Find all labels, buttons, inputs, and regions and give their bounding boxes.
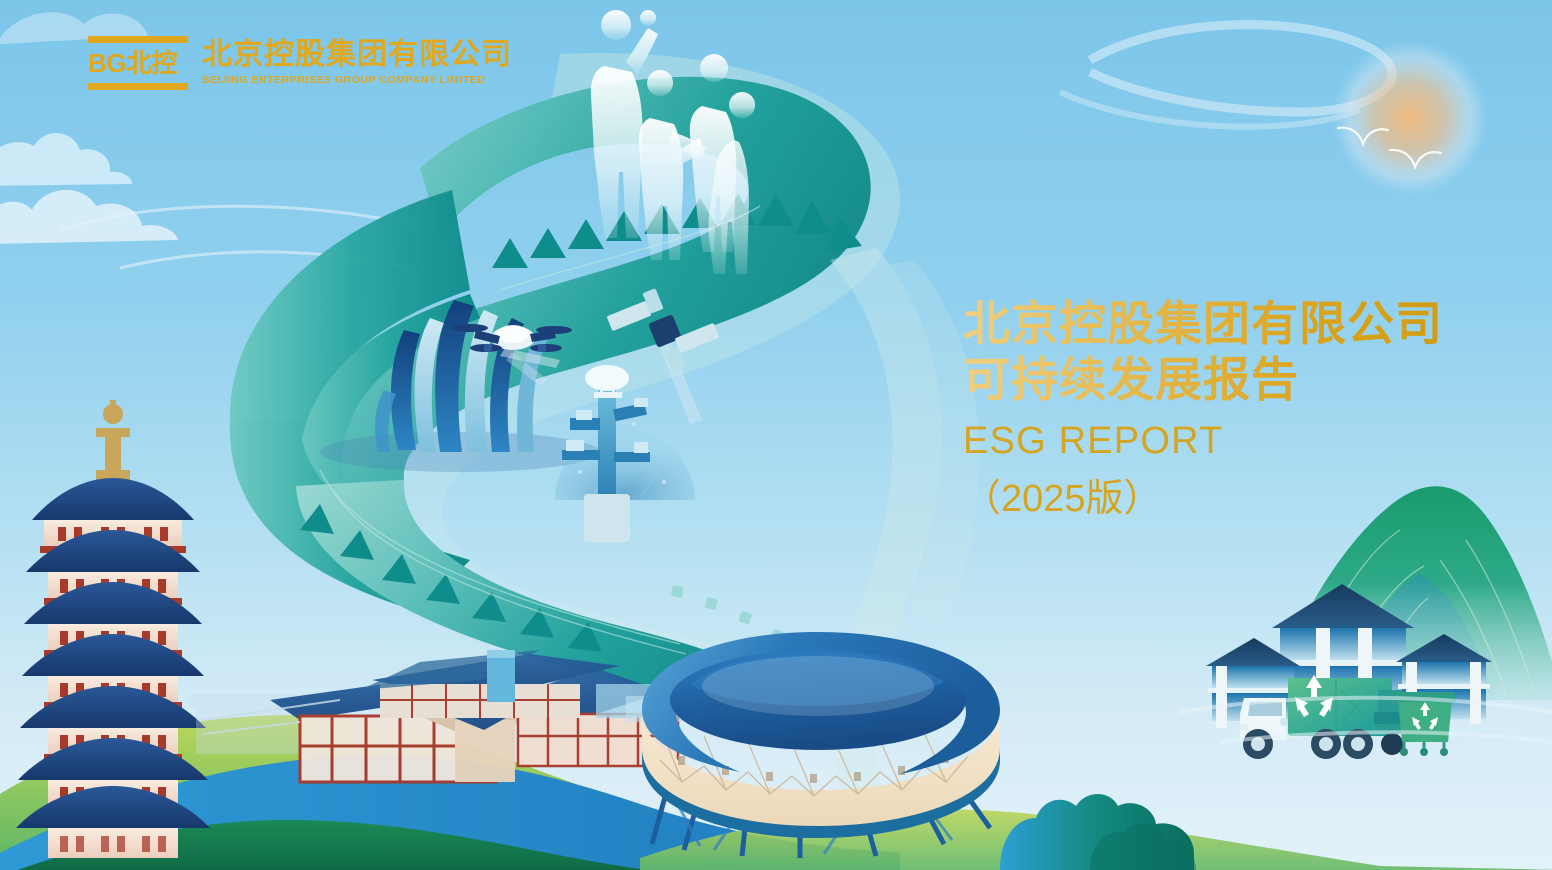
title-line-2: 可持续发展报告	[963, 352, 1483, 408]
title-line-1: 北京控股集团有限公司	[963, 296, 1483, 352]
logo-bar-top	[88, 36, 188, 43]
logo-wordmark: 北京控股集团有限公司 BEIJING ENTERPRISES GROUP COM…	[202, 36, 512, 87]
logo-mark-text: BG北控	[88, 48, 188, 78]
cover-title-block: 北京控股集团有限公司 可持续发展报告 ESG REPORT （2025版）	[963, 296, 1483, 526]
company-logo: BG北控 北京控股集团有限公司 BEIJING ENTERPRISES GROU…	[88, 36, 512, 90]
logo-name-en: BEIJING ENTERPRISES GROUP COMPANY LIMITE…	[202, 73, 512, 87]
logo-name-cn: 北京控股集团有限公司	[202, 38, 512, 72]
title-edition: （2025版）	[963, 472, 1483, 526]
logo-bar-bottom	[88, 83, 188, 90]
esg-report-cover: BG北控 北京控股集团有限公司 BEIJING ENTERPRISES GROU…	[0, 0, 1552, 870]
sun-glow	[1332, 40, 1488, 196]
logo-mark: BG北控	[88, 36, 188, 90]
title-line-english: ESG REPORT	[963, 414, 1483, 468]
